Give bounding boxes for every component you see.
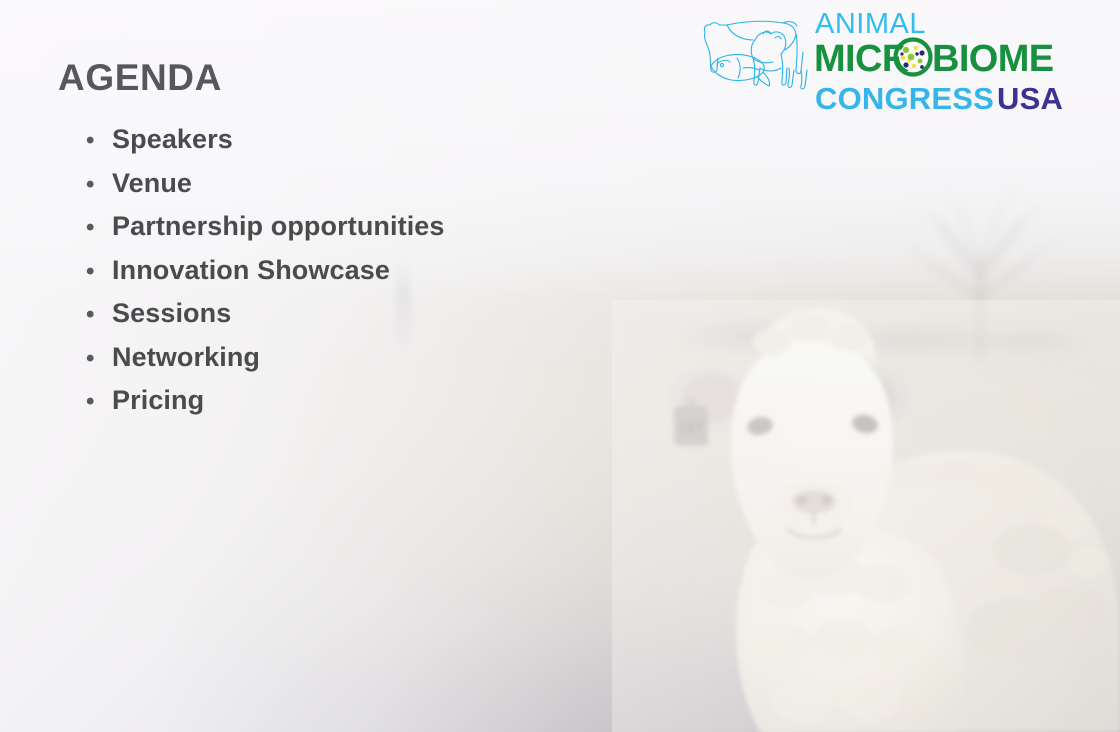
- list-item: • Networking: [86, 342, 445, 386]
- bullet-icon: •: [86, 260, 112, 284]
- slide-content: AGENDA • Speakers • Venue • Partnership …: [0, 0, 1120, 732]
- logo-wordmark: ANIMAL MICR BIOME: [815, 6, 1103, 118]
- svg-text:ANIMAL: ANIMAL: [815, 8, 926, 40]
- list-item: • Sessions: [86, 298, 445, 342]
- list-item: • Innovation Showcase: [86, 255, 445, 299]
- agenda-item-label: Pricing: [112, 385, 204, 416]
- bullet-icon: •: [86, 129, 112, 153]
- agenda-slide: 167: [0, 0, 1120, 732]
- bullet-icon: •: [86, 173, 112, 197]
- bullet-icon: •: [86, 216, 112, 240]
- agenda-item-label: Speakers: [112, 124, 233, 155]
- bullet-icon: •: [86, 303, 112, 327]
- agenda-item-label: Sessions: [112, 298, 231, 329]
- agenda-list: • Speakers • Venue • Partnership opportu…: [86, 124, 445, 429]
- congress-logo: ANIMAL MICR BIOME: [697, 6, 1103, 118]
- agenda-item-label: Venue: [112, 168, 192, 199]
- bullet-icon: •: [86, 390, 112, 414]
- agenda-item-label: Innovation Showcase: [112, 255, 390, 286]
- list-item: • Partnership opportunities: [86, 211, 445, 255]
- agenda-item-label: Networking: [112, 342, 260, 373]
- cow-dog-fish-icon: [697, 10, 813, 96]
- list-item: • Venue: [86, 168, 445, 212]
- svg-text:BIOME: BIOME: [932, 38, 1054, 80]
- list-item: • Pricing: [86, 385, 445, 429]
- svg-text:CONGRESS: CONGRESS: [815, 81, 994, 116]
- bullet-icon: •: [86, 347, 112, 371]
- list-item: • Speakers: [86, 124, 445, 168]
- agenda-item-label: Partnership opportunities: [112, 211, 445, 242]
- page-title: AGENDA: [58, 57, 222, 99]
- svg-text:USA: USA: [997, 81, 1063, 116]
